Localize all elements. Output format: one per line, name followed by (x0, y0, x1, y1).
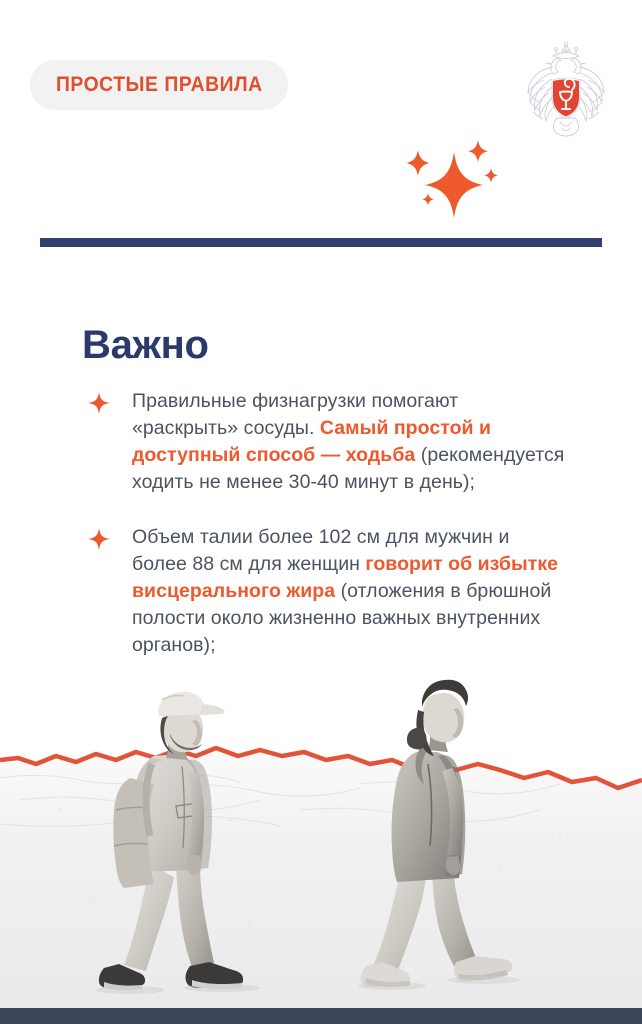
list-item: Правильные физнагрузки помогают «раскрыт… (88, 388, 568, 496)
sparkle-decoration-icon (390, 138, 520, 230)
category-badge: ПРОСТЫЕ ПРАВИЛА (30, 60, 288, 110)
bullet-list: Правильные физнагрузки помогают «раскрыт… (88, 388, 568, 659)
footer-bar (0, 1008, 642, 1024)
four-point-star-icon (88, 392, 110, 414)
list-item: Объем талии более 102 см для мужчин и бо… (88, 524, 568, 659)
infographic-page: ПРОСТЫЕ ПРАВИЛА (0, 0, 642, 1024)
section-divider (40, 238, 602, 247)
walking-couple-photo (0, 660, 642, 1008)
page-title: Важно (82, 323, 209, 367)
four-point-star-icon (88, 528, 110, 550)
russian-ministry-of-health-emblem-icon (520, 40, 612, 140)
header: ПРОСТЫЕ ПРАВИЛА (0, 0, 642, 150)
category-badge-label: ПРОСТЫЕ ПРАВИЛА (56, 73, 263, 97)
